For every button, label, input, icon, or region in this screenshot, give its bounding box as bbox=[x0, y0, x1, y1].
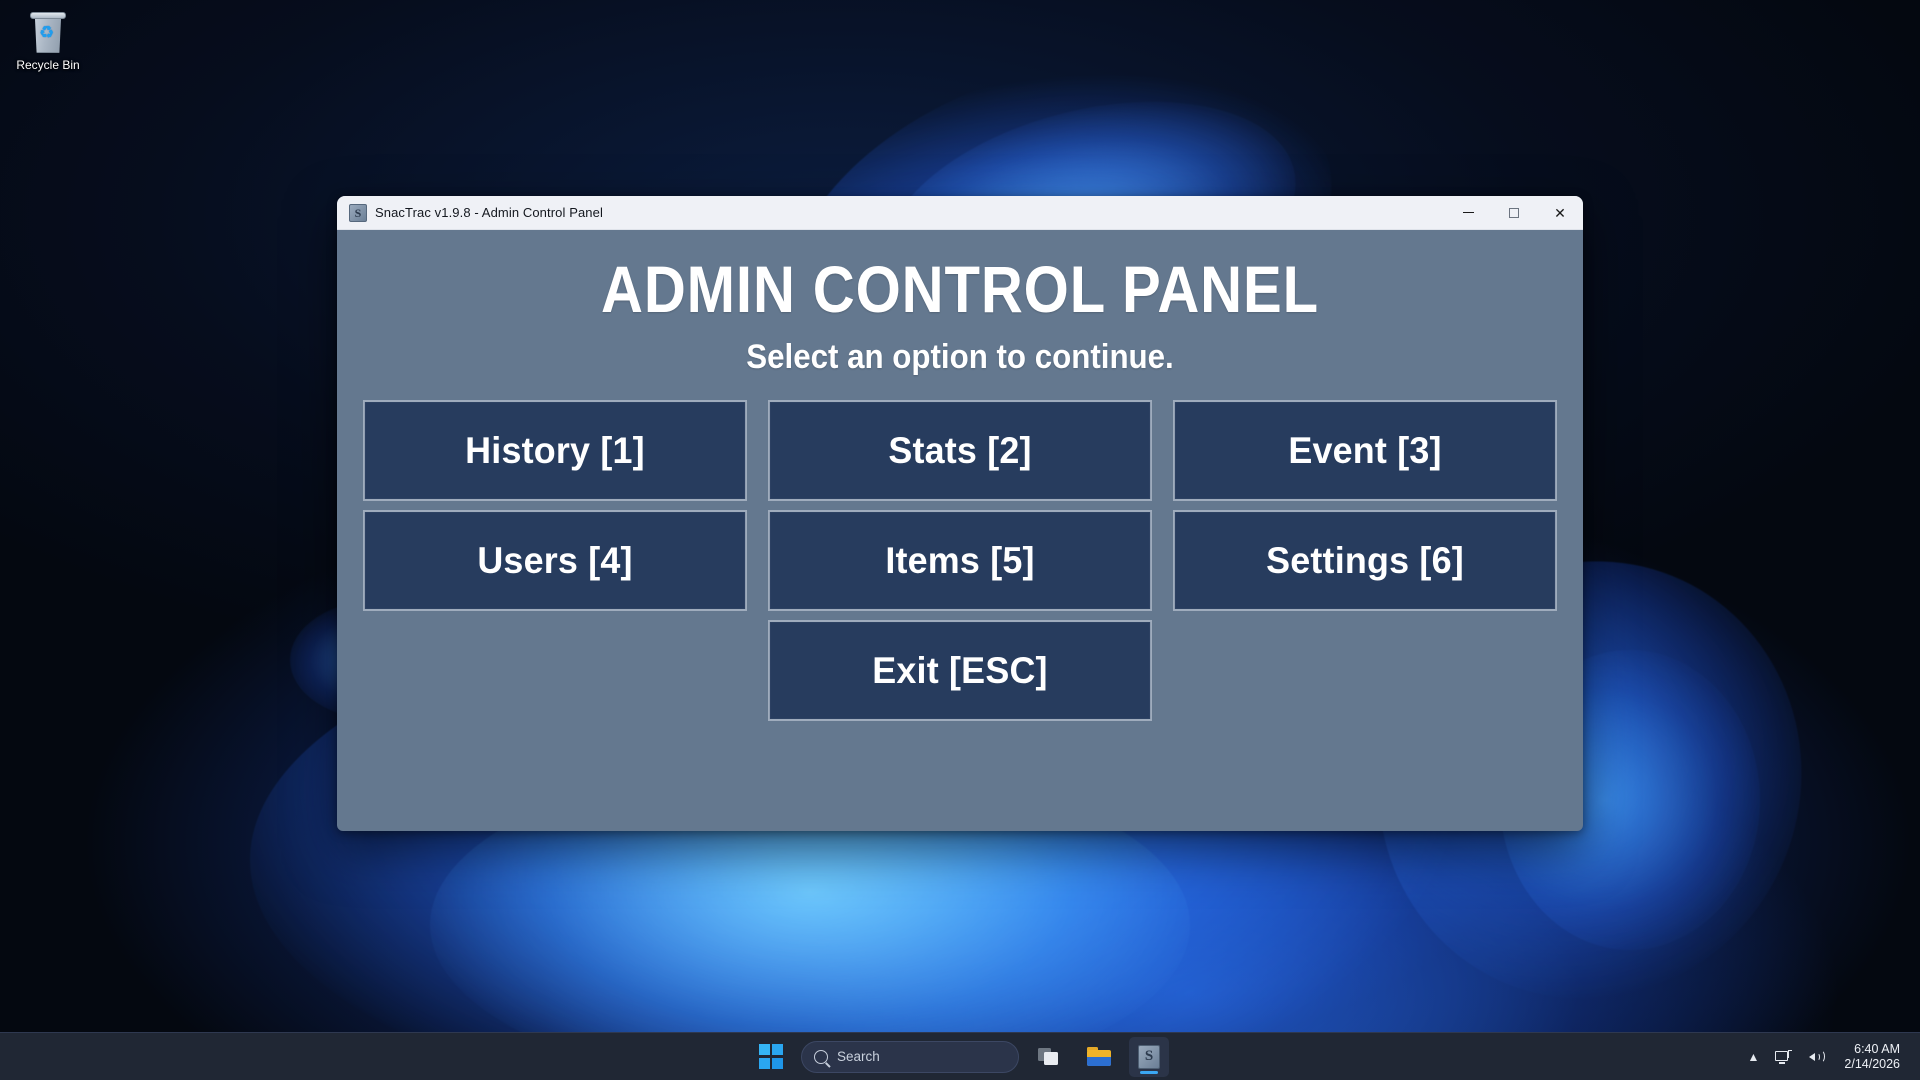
volume-button[interactable] bbox=[1801, 1044, 1832, 1070]
close-icon: ✕ bbox=[1554, 206, 1566, 220]
menu-button-exit[interactable]: Exit [ESC] bbox=[768, 620, 1152, 721]
minimize-icon bbox=[1463, 212, 1474, 213]
menu-button-event[interactable]: Event [3] bbox=[1173, 400, 1557, 501]
desktop[interactable]: ♻ Recycle Bin S SnacTrac v1.9.8 - Admin … bbox=[0, 0, 1920, 1080]
taskbar: Search S ▲ bbox=[0, 1032, 1920, 1080]
admin-control-panel-window[interactable]: S SnacTrac v1.9.8 - Admin Control Panel … bbox=[337, 196, 1583, 831]
menu-button-history[interactable]: History [1] bbox=[363, 400, 747, 501]
desktop-icon-recycle-bin[interactable]: ♻ Recycle Bin bbox=[8, 8, 88, 72]
menu-button-settings[interactable]: Settings [6] bbox=[1173, 510, 1557, 611]
chevron-up-icon: ▲ bbox=[1748, 1051, 1760, 1063]
menu-button-grid: History [1] Stats [2] Event [3] Users [4… bbox=[357, 400, 1563, 721]
page-subtitle: Select an option to continue. bbox=[405, 336, 1515, 378]
file-explorer-button[interactable] bbox=[1079, 1037, 1119, 1077]
window-controls: ✕ bbox=[1445, 196, 1583, 229]
show-hidden-icons-button[interactable]: ▲ bbox=[1741, 1045, 1767, 1069]
start-button[interactable] bbox=[751, 1037, 791, 1077]
task-view-button[interactable] bbox=[1029, 1037, 1069, 1077]
window-title: SnacTrac v1.9.8 - Admin Control Panel bbox=[375, 205, 603, 220]
clock[interactable]: 6:40 AM 2/14/2026 bbox=[1834, 1038, 1908, 1076]
windows-logo-icon bbox=[759, 1044, 784, 1069]
taskbar-app-snactrac[interactable]: S bbox=[1129, 1037, 1169, 1077]
task-view-icon bbox=[1038, 1048, 1060, 1066]
menu-button-items[interactable]: Items [5] bbox=[768, 510, 1152, 611]
menu-button-stats[interactable]: Stats [2] bbox=[768, 400, 1152, 501]
page-title: ADMIN CONTROL PANEL bbox=[429, 252, 1490, 326]
search-placeholder: Search bbox=[837, 1049, 880, 1064]
maximize-button[interactable] bbox=[1491, 196, 1537, 229]
clock-date: 2/14/2026 bbox=[1844, 1057, 1900, 1072]
clock-time: 6:40 AM bbox=[1844, 1042, 1900, 1057]
maximize-icon bbox=[1509, 208, 1519, 218]
snactrac-icon: S bbox=[1138, 1045, 1160, 1069]
search-icon bbox=[814, 1050, 828, 1064]
folder-icon bbox=[1087, 1047, 1111, 1066]
window-title-bar[interactable]: S SnacTrac v1.9.8 - Admin Control Panel … bbox=[337, 196, 1583, 230]
recycle-bin-icon: ♻ bbox=[26, 12, 70, 56]
minimize-button[interactable] bbox=[1445, 196, 1491, 229]
close-button[interactable]: ✕ bbox=[1537, 196, 1583, 229]
volume-icon bbox=[1808, 1050, 1825, 1064]
panel-body: ADMIN CONTROL PANEL Select an option to … bbox=[337, 230, 1583, 831]
desktop-icon-label: Recycle Bin bbox=[8, 58, 88, 72]
search-input[interactable]: Search bbox=[801, 1041, 1019, 1073]
active-app-indicator bbox=[1140, 1071, 1158, 1074]
network-button[interactable] bbox=[1768, 1044, 1799, 1070]
app-icon: S bbox=[349, 204, 367, 222]
taskbar-center-group: Search S bbox=[751, 1033, 1169, 1080]
network-icon bbox=[1775, 1050, 1792, 1064]
menu-button-users[interactable]: Users [4] bbox=[363, 510, 747, 611]
system-tray: ▲ 6:40 AM 2/14/2026 bbox=[1741, 1033, 1920, 1080]
